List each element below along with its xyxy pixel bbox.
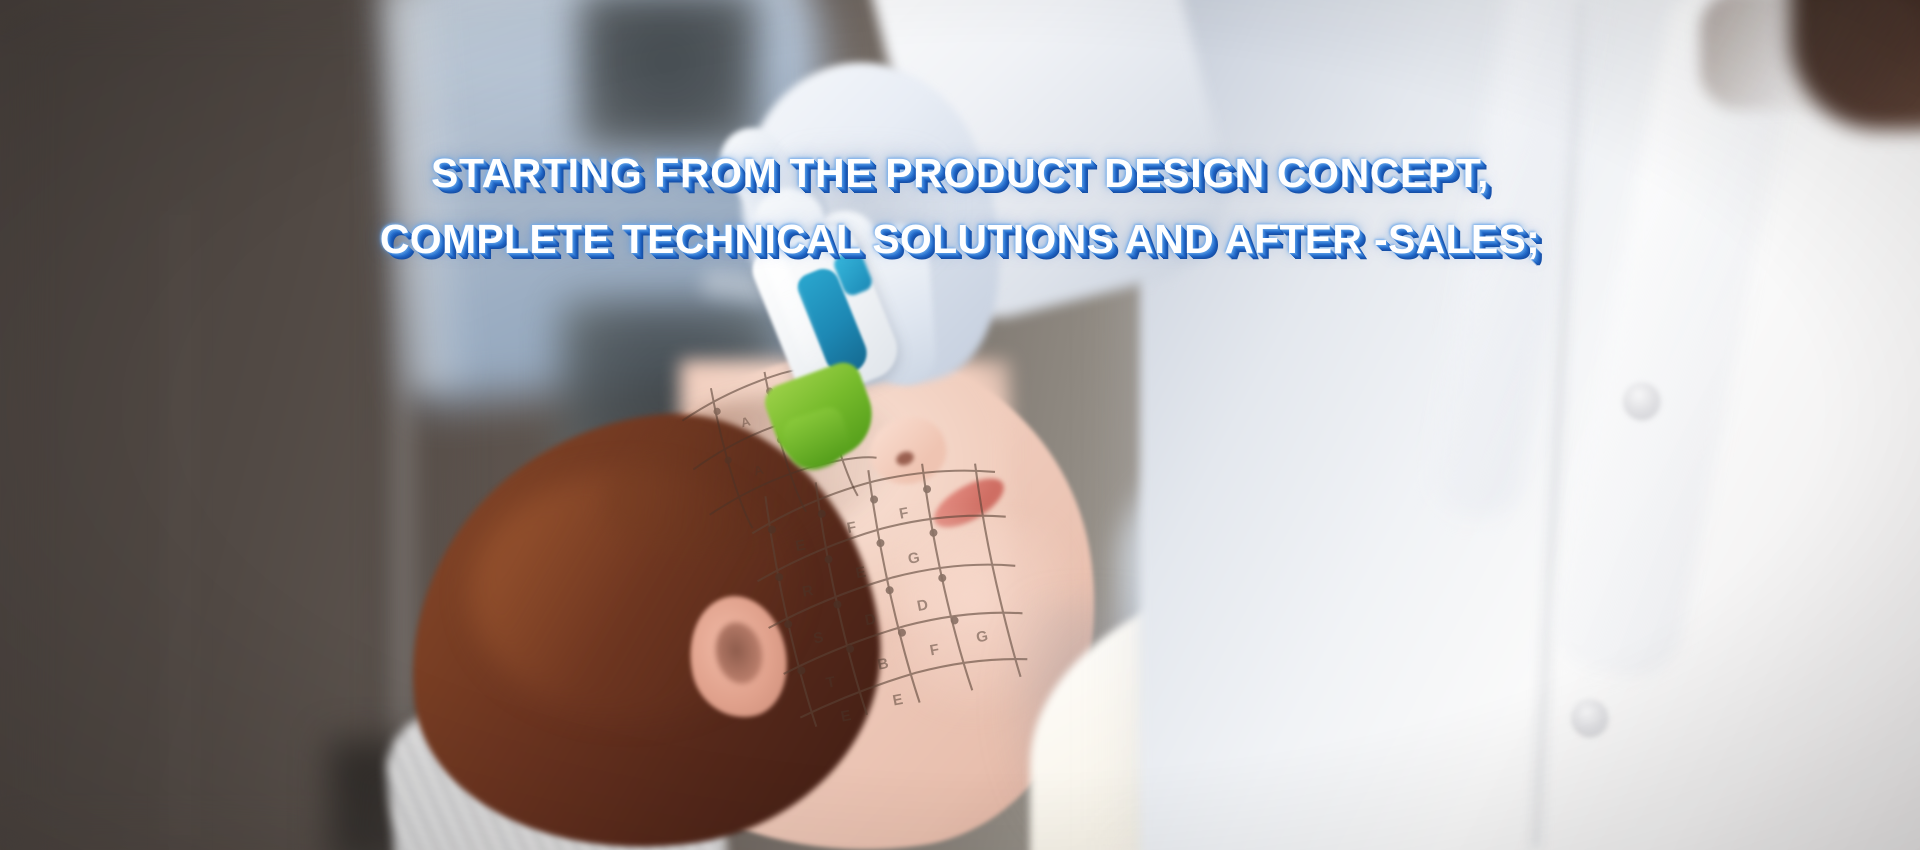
hero-banner: EFF REG SDD TBF GEE bbox=[0, 0, 1920, 850]
scene-vignette bbox=[0, 0, 1920, 850]
